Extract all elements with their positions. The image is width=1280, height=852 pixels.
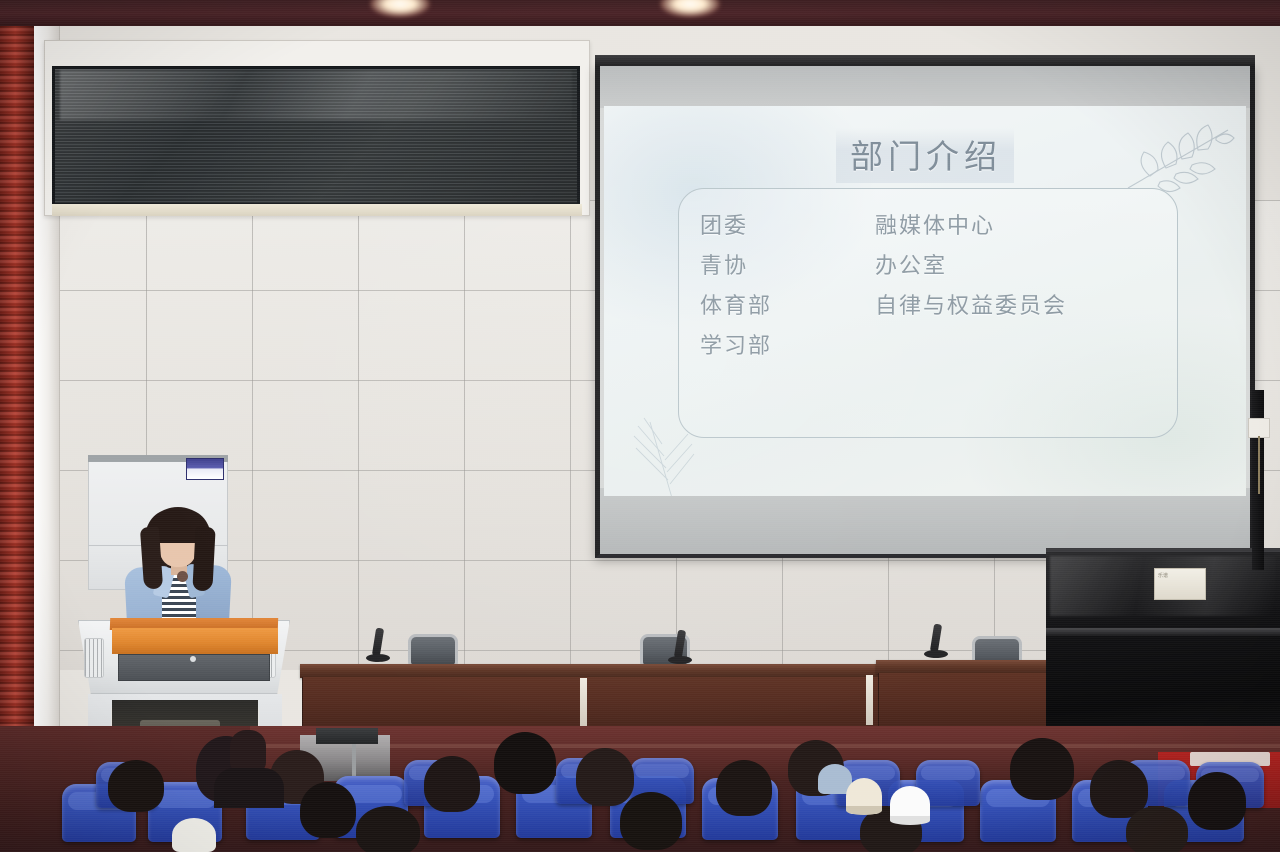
screen-margin-bottom [600, 488, 1250, 554]
av-laptop [316, 728, 378, 744]
department-item: 学习部 [700, 330, 875, 364]
led-panel-ledge [52, 204, 582, 216]
leaf-branch-icon [620, 392, 730, 496]
audience-shoulder [214, 768, 284, 808]
wall-socket [1248, 418, 1270, 438]
table-divider [580, 678, 587, 728]
department-item: 体育部 [700, 290, 875, 324]
department-item: 青协 [700, 250, 875, 284]
audience-rail [250, 744, 1280, 748]
audience-head [1188, 772, 1246, 830]
microphone-base [924, 650, 948, 658]
presenter-hair-right [192, 527, 215, 592]
red-curtain [0, 26, 34, 796]
cap-brim [846, 806, 882, 815]
conference-table [300, 664, 890, 678]
piano-lid [1046, 628, 1280, 636]
audience-head [716, 760, 772, 816]
podium-front-panel [112, 628, 278, 654]
department-item: 团委 [700, 210, 875, 244]
led-panel-glare [60, 70, 572, 120]
cap-brim [890, 816, 930, 825]
podium-knob [190, 656, 196, 662]
department-item: 办公室 [875, 250, 1170, 284]
audience-head [108, 760, 164, 812]
piano-sheet-music: 乐谱 [1154, 568, 1206, 600]
department-item: 融媒体中心 [875, 210, 1170, 244]
audience-head [576, 748, 634, 806]
audience-head [1126, 806, 1188, 852]
audience-cap [172, 818, 216, 852]
podium-speaker-grille-left [84, 638, 104, 678]
auditorium-photo: 部门介绍 团委 融媒体中心 青协 办公室 体育部 自律与权益委员会 学习部 [0, 0, 1280, 852]
audience-head [1010, 738, 1074, 800]
table-divider [866, 675, 873, 725]
wall-wire [1258, 436, 1260, 494]
projection-screen: 部门介绍 团委 融媒体中心 青协 办公室 体育部 自律与权益委员会 学习部 [595, 66, 1255, 558]
audience-head [424, 756, 480, 812]
audience-head [356, 806, 420, 852]
wall-notice-sign [186, 458, 224, 480]
audience-head [620, 792, 682, 850]
slide-title-container: 部门介绍 [604, 128, 1246, 183]
screen-margin-top [600, 66, 1250, 108]
department-item: 自律与权益委员会 [875, 290, 1170, 324]
stage-chair [408, 634, 458, 668]
microphone-base [366, 654, 390, 662]
presentation-slide: 部门介绍 团委 融媒体中心 青协 办公室 体育部 自律与权益委员会 学习部 [604, 106, 1246, 496]
department-list: 团委 融媒体中心 青协 办公室 体育部 自律与权益委员会 学习部 [700, 210, 1170, 364]
audience-head [300, 782, 356, 838]
audience-head [494, 732, 556, 794]
microphone-base [668, 656, 692, 664]
slide-title: 部门介绍 [836, 128, 1014, 183]
microphone-icon [177, 571, 188, 582]
